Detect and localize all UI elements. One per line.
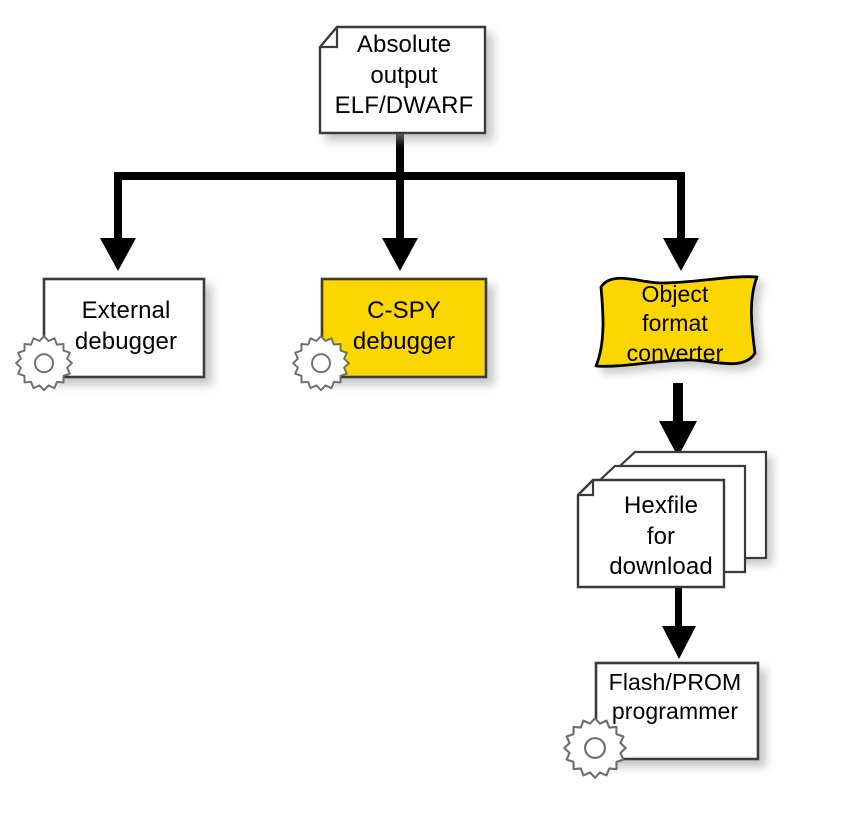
flow-diagram: Absolute output ELF/DWARF External debug… xyxy=(0,0,843,830)
wave-banner-shape xyxy=(596,277,757,367)
flow-diagram-canvas xyxy=(0,0,843,830)
node-hexfile-for-download[interactable] xyxy=(578,452,766,587)
edge-hexfile-to-programmer xyxy=(662,588,696,659)
connector-stem xyxy=(673,383,683,426)
fork-branch-right xyxy=(677,172,685,240)
arrowhead-to-cspy-debugger xyxy=(382,238,418,271)
fork-branch-left xyxy=(114,172,122,240)
node-absolute-output[interactable] xyxy=(320,27,485,133)
node-flash-prom-programmer[interactable] xyxy=(564,663,758,778)
fork-branch-middle xyxy=(396,172,404,240)
connector-stem xyxy=(675,588,682,632)
arrowhead-to-flash-prom-programmer xyxy=(662,626,696,659)
arrowhead-to-external-debugger xyxy=(100,238,136,271)
node-external-debugger[interactable] xyxy=(16,279,204,390)
edge-converter-to-hexfile xyxy=(659,383,697,457)
node-cspy-debugger[interactable] xyxy=(293,279,486,390)
node-object-format-converter[interactable] xyxy=(596,277,757,367)
document-sheet-front xyxy=(578,480,724,587)
gear-icon xyxy=(293,336,349,390)
arrowhead-to-object-format-converter xyxy=(663,238,699,271)
gear-icon xyxy=(16,336,72,390)
gear-icon xyxy=(564,718,625,777)
edge-fork-from-absolute-output xyxy=(100,133,699,271)
document-shape xyxy=(320,27,485,133)
